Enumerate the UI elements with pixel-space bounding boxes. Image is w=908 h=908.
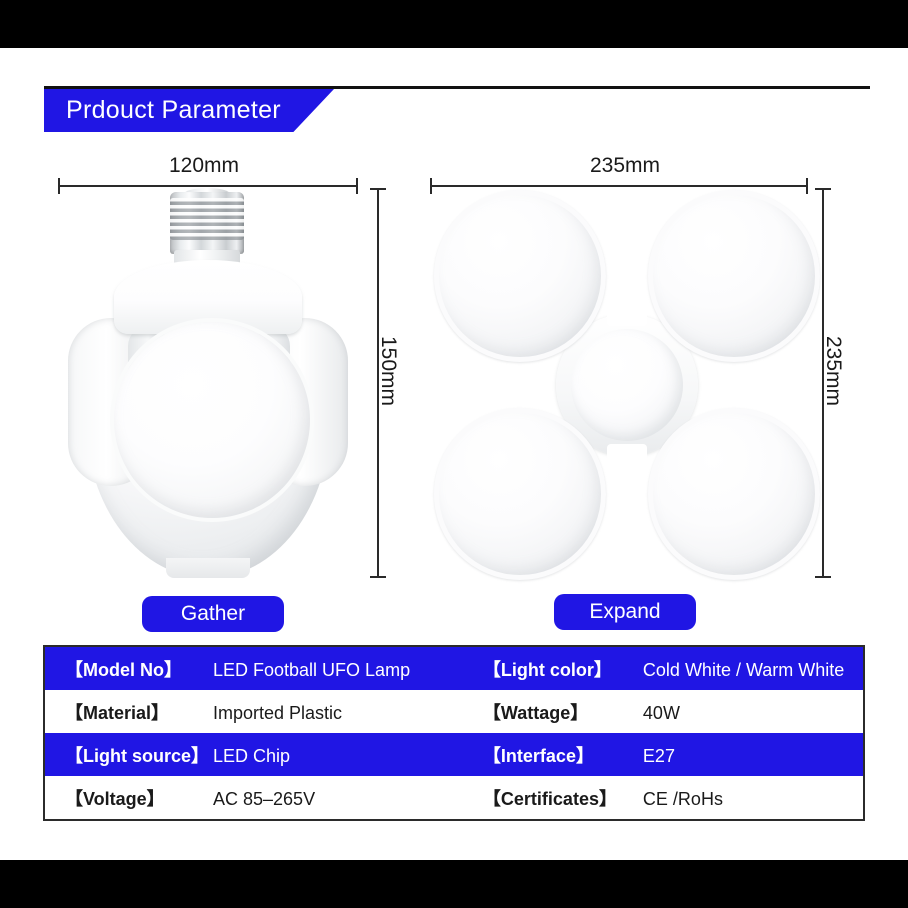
spec-cell-right: 【Interface】 E27 bbox=[473, 742, 863, 768]
expand-state-button[interactable]: Expand bbox=[554, 594, 696, 630]
spec-value: LED Chip bbox=[213, 746, 290, 767]
spec-value: AC 85–265V bbox=[213, 789, 315, 810]
spec-cell-right: 【Certificates】 CE /RoHs bbox=[473, 785, 863, 811]
expand-state-button-label: Expand bbox=[589, 600, 660, 624]
section-header: Prdouct Parameter bbox=[0, 86, 908, 132]
specification-table: 【Model No】 LED Football UFO Lamp 【Light … bbox=[43, 645, 865, 821]
spec-key: 【Interface】 bbox=[483, 742, 643, 768]
spec-cell-right: 【Light color】 Cold White / Warm White bbox=[473, 656, 863, 682]
table-row: 【Material】 Imported Plastic 【Wattage】 40… bbox=[45, 690, 863, 733]
led-blade-top-left-icon bbox=[434, 190, 606, 362]
header-divider-rule bbox=[44, 86, 870, 89]
spec-key: 【Certificates】 bbox=[483, 785, 643, 811]
spec-value: 40W bbox=[643, 703, 680, 724]
gather-state-button[interactable]: Gather bbox=[142, 596, 284, 632]
led-blade-bottom-left-icon bbox=[434, 408, 606, 580]
expand-lamp-image bbox=[432, 186, 822, 586]
spec-key: 【Wattage】 bbox=[483, 699, 643, 725]
spec-cell-left: 【Light source】 LED Chip bbox=[45, 742, 473, 768]
lamp-bottom-clip-icon bbox=[166, 558, 250, 578]
spec-key: 【Voltage】 bbox=[65, 785, 213, 811]
spec-key: 【Light source】 bbox=[65, 742, 213, 768]
product-illustration-area: 120mm 150mm 235mm 235mm bbox=[0, 140, 908, 640]
spec-cell-right: 【Wattage】 40W bbox=[473, 699, 863, 725]
spec-value: E27 bbox=[643, 746, 675, 767]
gather-lamp-image bbox=[58, 188, 358, 588]
center-led-panel-icon bbox=[571, 329, 683, 441]
led-blade-bottom-right-icon bbox=[648, 408, 820, 580]
led-blade-top-right-icon bbox=[648, 190, 820, 362]
spec-cell-left: 【Material】 Imported Plastic bbox=[45, 699, 473, 725]
header-banner: Prdouct Parameter bbox=[44, 89, 334, 132]
table-row: 【Voltage】 AC 85–265V 【Certificates】 CE /… bbox=[45, 776, 863, 819]
spec-cell-left: 【Voltage】 AC 85–265V bbox=[45, 785, 473, 811]
expand-width-label: 235mm bbox=[530, 154, 720, 178]
spec-key: 【Model No】 bbox=[65, 656, 213, 682]
gather-width-dimension-line bbox=[58, 185, 358, 187]
spec-key: 【Material】 bbox=[65, 699, 213, 725]
hub-notch-bottom-icon bbox=[607, 444, 647, 464]
table-row: 【Light source】 LED Chip 【Interface】 E27 bbox=[45, 733, 863, 776]
product-parameter-page: Prdouct Parameter 120mm 150mm 235mm 235m… bbox=[0, 0, 908, 908]
gather-width-label: 120mm bbox=[118, 154, 290, 178]
letterbox-bar-bottom bbox=[0, 860, 908, 908]
spec-cell-left: 【Model No】 LED Football UFO Lamp bbox=[45, 656, 473, 682]
page-title: Prdouct Parameter bbox=[44, 96, 281, 125]
spec-value: CE /RoHs bbox=[643, 789, 723, 810]
spec-key: 【Light color】 bbox=[483, 656, 643, 682]
spec-value: Cold White / Warm White bbox=[643, 660, 844, 681]
spec-value: Imported Plastic bbox=[213, 703, 342, 724]
lamp-e27-socket-icon bbox=[170, 192, 244, 254]
gather-height-label: 150mm bbox=[376, 336, 400, 406]
lamp-front-led-panel-icon bbox=[114, 322, 310, 518]
gather-state-button-label: Gather bbox=[181, 602, 245, 626]
letterbox-bar-top bbox=[0, 0, 908, 48]
spec-value: LED Football UFO Lamp bbox=[213, 660, 410, 681]
table-row: 【Model No】 LED Football UFO Lamp 【Light … bbox=[45, 647, 863, 690]
expand-height-label: 235mm bbox=[821, 336, 845, 406]
hub-notch-top-icon bbox=[607, 306, 647, 326]
